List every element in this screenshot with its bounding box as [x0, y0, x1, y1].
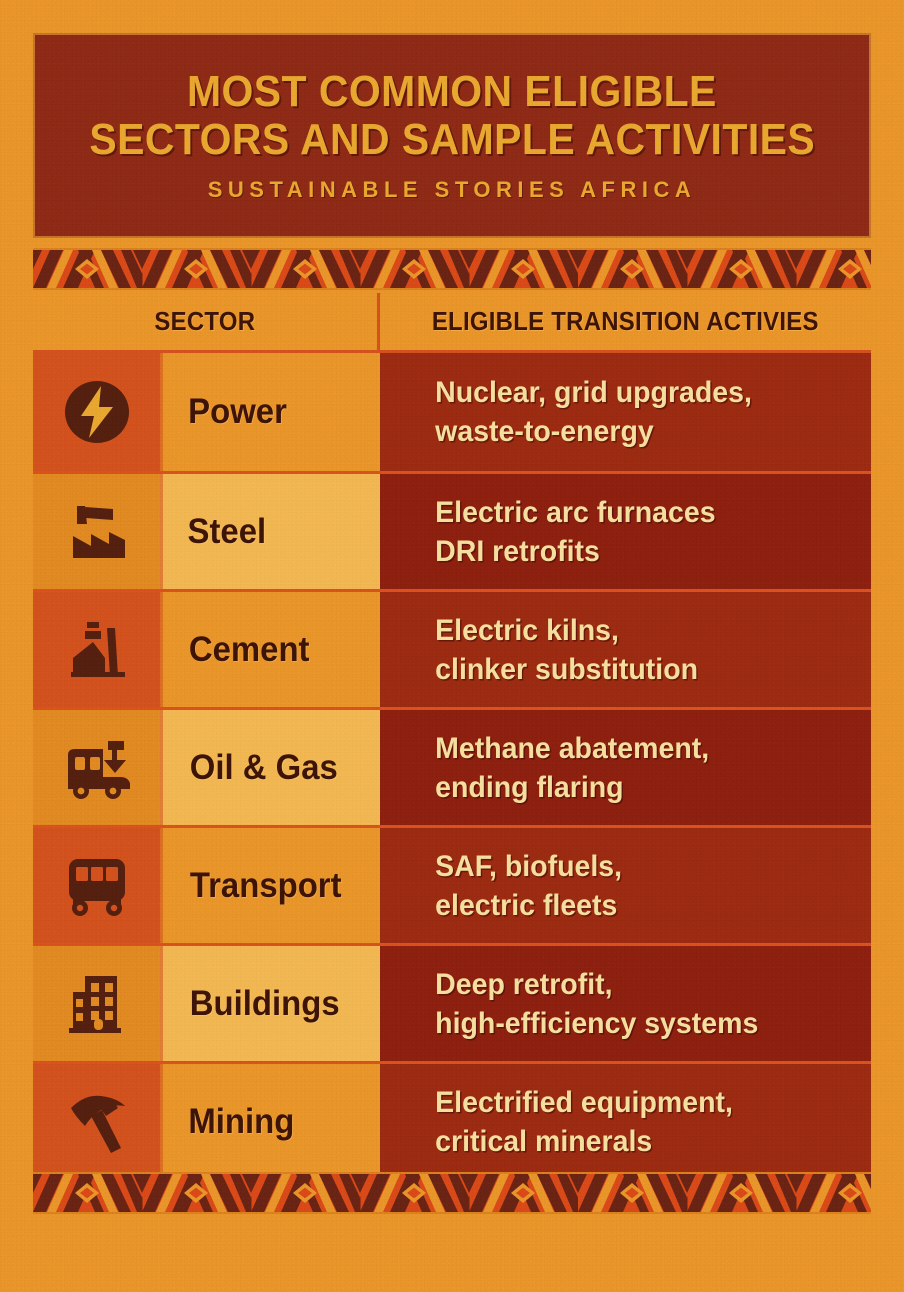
sector-icon-cell [33, 828, 160, 943]
sector-icon-cell [33, 353, 160, 471]
sector-name-label: Mining [188, 1102, 294, 1142]
activity-line-2: high-efficiency systems [435, 1004, 860, 1043]
table-row: Buildings Deep retrofit, high-efficiency… [33, 943, 871, 1061]
sector-name-cell: Mining [160, 1064, 380, 1179]
activity-line-2: electric fleets [435, 886, 860, 925]
activity-line-2: DRI retrofits [435, 532, 860, 571]
activity-line-1: SAF, biofuels, [435, 847, 860, 886]
sector-activities-cell: Electric kilns, clinker substitution [380, 592, 871, 707]
table-row: Transport SAF, biofuels, electric fleets [33, 825, 871, 943]
tanker-truck-icon [60, 733, 134, 803]
sector-name-label: Buildings [190, 984, 340, 1024]
sector-name-label: Steel [188, 512, 267, 552]
infographic-poster: MOST COMMON ELIGIBLE SECTORS AND SAMPLE … [0, 0, 904, 1292]
column-header-activities-label: ELIGIBLE TRANSITION ACTIVIES [432, 306, 819, 337]
sector-activities-cell: Nuclear, grid upgrades, waste-to-energy [380, 353, 871, 471]
column-header-sector-label: SECTOR [155, 306, 256, 337]
activity-line-1: Electric arc furnaces [435, 493, 860, 532]
activity-line-2: clinker substitution [435, 650, 860, 689]
table-row: Oil & Gas Methane abatement, ending flar… [33, 707, 871, 825]
page-subtitle: SUSTAINABLE STORIES AFRICA [208, 177, 697, 203]
bus-icon [61, 853, 133, 919]
sector-icon-cell [33, 946, 160, 1061]
sector-name-cell: Cement [160, 592, 380, 707]
column-header-activities: ELIGIBLE TRANSITION ACTIVIES [380, 293, 871, 350]
sector-activities-cell: SAF, biofuels, electric fleets [380, 828, 871, 943]
sector-name-cell: Transport [160, 828, 380, 943]
activity-line-2: ending flaring [435, 768, 860, 807]
table-header-row: SECTOR ELIGIBLE TRANSITION ACTIVIES [33, 293, 871, 353]
activity-line-1: Methane abatement, [435, 729, 860, 768]
sector-name-cell: Oil & Gas [160, 710, 380, 825]
column-header-sector: SECTOR [33, 293, 380, 350]
sector-name-cell: Power [160, 353, 380, 471]
sector-activities-cell: Deep retrofit, high-efficiency systems [380, 946, 871, 1061]
activity-line-1: Deep retrofit, [435, 965, 860, 1004]
sector-name-label: Oil & Gas [190, 748, 338, 788]
sector-name-cell: Steel [160, 474, 380, 589]
sector-name-cell: Buildings [160, 946, 380, 1061]
factory-icon [61, 496, 133, 568]
pickaxe-icon [61, 1086, 133, 1158]
sector-icon-cell [33, 710, 160, 825]
lightning-bolt-icon [61, 376, 133, 448]
sector-activities-cell: Electrified equipment, critical minerals [380, 1064, 871, 1179]
sector-activities-cell: Methane abatement, ending flaring [380, 710, 871, 825]
activity-line-2: waste-to-energy [435, 412, 860, 451]
table-row: Power Nuclear, grid upgrades, waste-to-e… [33, 353, 871, 471]
tribal-pattern-band-top [33, 248, 871, 290]
page-title-line-1: MOST COMMON ELIGIBLE [187, 68, 717, 116]
activity-line-1: Nuclear, grid upgrades, [435, 373, 860, 412]
sector-name-label: Power [188, 392, 287, 432]
tribal-pattern-band-bottom [33, 1172, 871, 1214]
sectors-table: SECTOR ELIGIBLE TRANSITION ACTIVIES Powe… [33, 293, 871, 1179]
sector-activities-cell: Electric arc furnaces DRI retrofits [380, 474, 871, 589]
cement-plant-icon [61, 614, 133, 686]
sector-icon-cell [33, 592, 160, 707]
table-row: Mining Electrified equipment, critical m… [33, 1061, 871, 1179]
sector-icon-cell [33, 474, 160, 589]
office-building-icon [61, 968, 133, 1040]
title-plaque: MOST COMMON ELIGIBLE SECTORS AND SAMPLE … [33, 33, 871, 238]
activity-line-2: critical minerals [435, 1122, 860, 1161]
page-title-line-2: SECTORS AND SAMPLE ACTIVITIES [89, 116, 815, 164]
table-row: Steel Electric arc furnaces DRI retrofit… [33, 471, 871, 589]
sector-name-label: Transport [190, 866, 342, 906]
table-row: Cement Electric kilns, clinker substitut… [33, 589, 871, 707]
sector-icon-cell [33, 1064, 160, 1179]
sector-name-label: Cement [189, 630, 310, 670]
activity-line-1: Electrified equipment, [435, 1083, 860, 1122]
activity-line-1: Electric kilns, [435, 611, 860, 650]
